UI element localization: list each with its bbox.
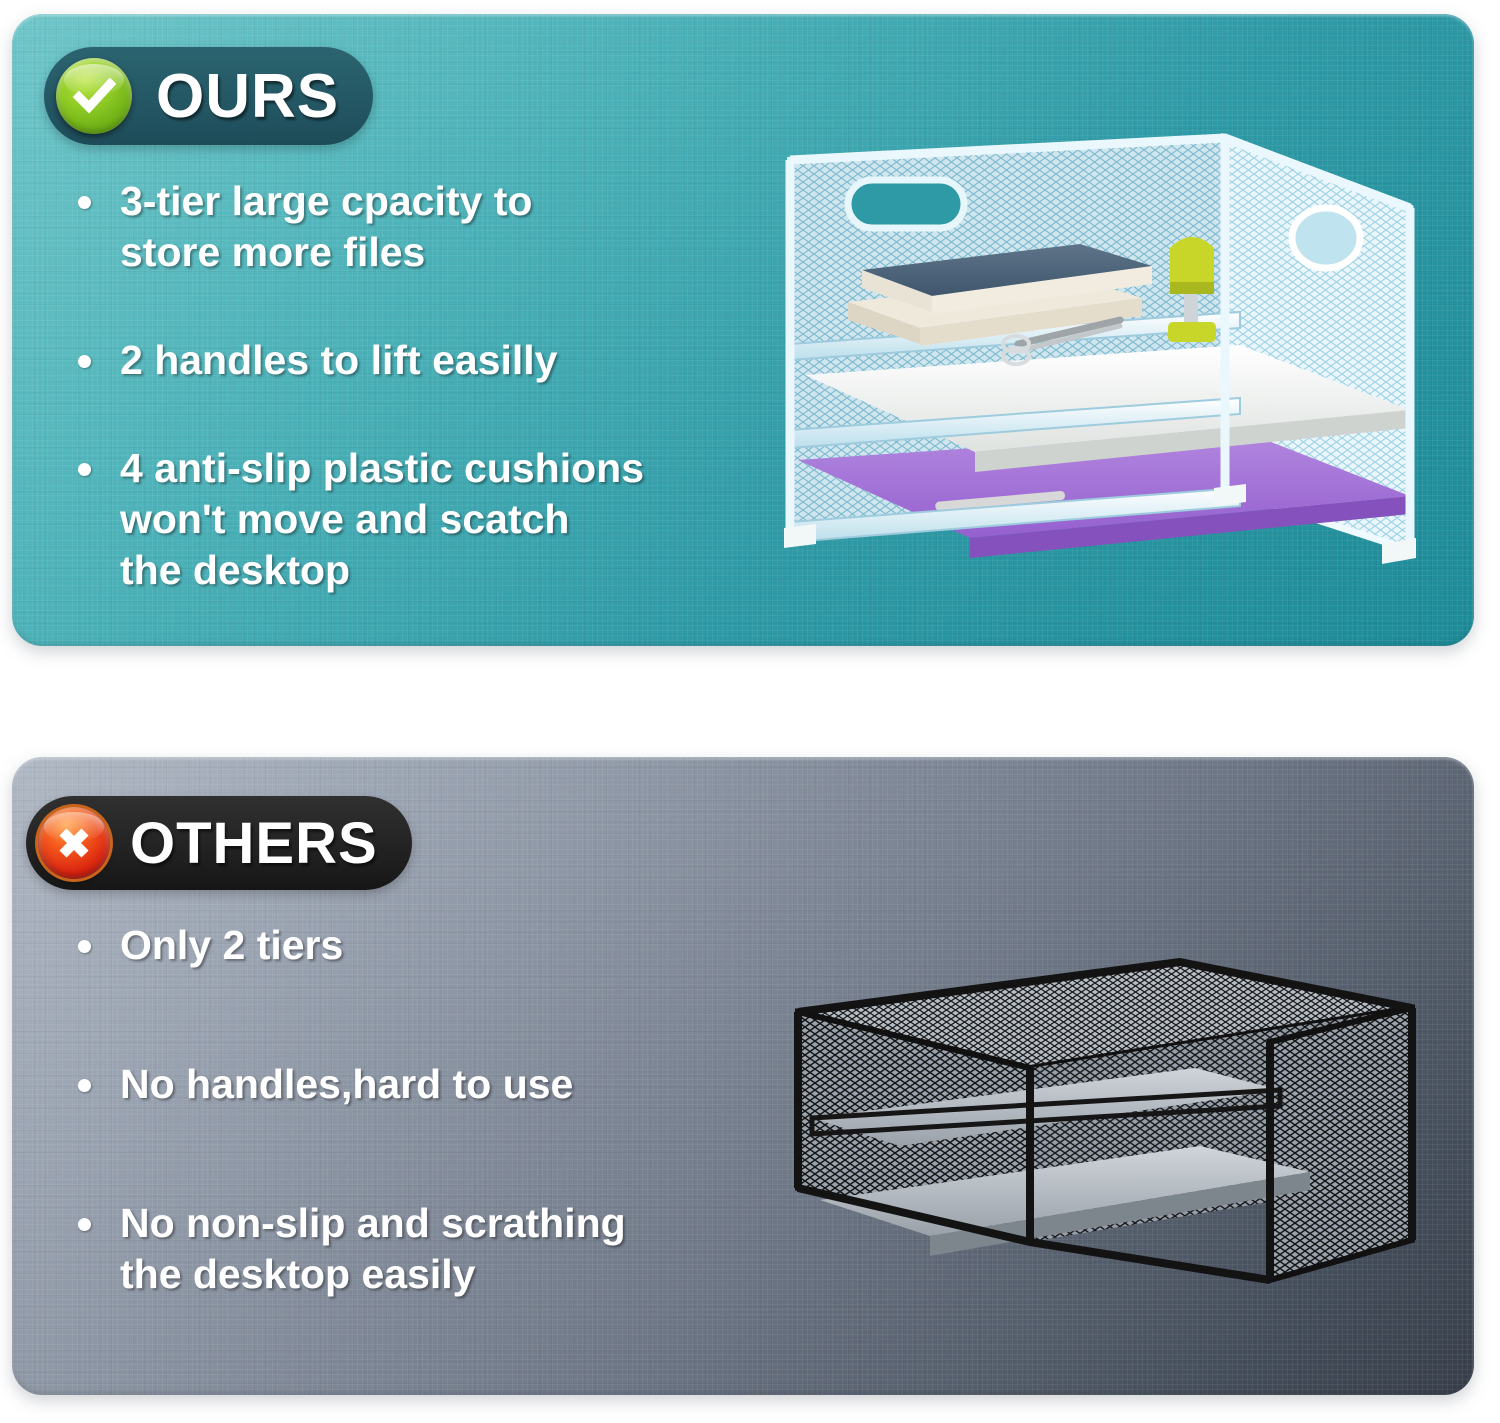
list-item: 3-tier large cpacity to store more files bbox=[78, 176, 728, 278]
infographic-stage: OURS 3-tier large cpacity to store more … bbox=[0, 0, 1500, 1423]
others-product-image bbox=[780, 950, 1430, 1300]
ours-bullet-list: 3-tier large cpacity to store more files… bbox=[78, 176, 728, 653]
list-item-label: 2 handles to lift easilly bbox=[120, 335, 557, 386]
list-item-label: 3-tier large cpacity to store more files bbox=[120, 176, 532, 278]
others-bullet-list: Only 2 tiers No handles,hard to use No n… bbox=[78, 920, 778, 1388]
list-item-label: No non-slip and scrathing the desktop ea… bbox=[120, 1198, 626, 1300]
list-item: 2 handles to lift easilly bbox=[78, 335, 728, 386]
stapler-icon bbox=[1168, 237, 1216, 342]
list-item: Only 2 tiers bbox=[78, 920, 778, 971]
bullet-dot-icon bbox=[78, 355, 91, 368]
list-item-label: No handles,hard to use bbox=[120, 1059, 573, 1110]
bullet-dot-icon bbox=[78, 1079, 91, 1092]
list-item: No non-slip and scrathing the desktop ea… bbox=[78, 1198, 778, 1300]
list-item-label: Only 2 tiers bbox=[120, 920, 343, 971]
ours-badge: OURS bbox=[44, 47, 373, 145]
bullet-dot-icon bbox=[78, 463, 91, 476]
others-badge: OTHERS bbox=[26, 796, 412, 890]
list-item: 4 anti-slip plastic cushions won't move … bbox=[78, 443, 728, 596]
right-mesh-panel bbox=[1270, 1008, 1412, 1280]
x-circle-icon bbox=[38, 807, 110, 879]
bullet-dot-icon bbox=[78, 1218, 91, 1231]
ours-badge-label: OURS bbox=[156, 61, 339, 132]
check-circle-icon bbox=[56, 58, 132, 134]
ours-product-image bbox=[770, 130, 1450, 600]
bullet-dot-icon bbox=[78, 196, 91, 209]
bullet-dot-icon bbox=[78, 940, 91, 953]
list-item-label: 4 anti-slip plastic cushions won't move … bbox=[120, 443, 644, 596]
list-item: No handles,hard to use bbox=[78, 1059, 778, 1110]
others-badge-label: OTHERS bbox=[130, 810, 378, 877]
